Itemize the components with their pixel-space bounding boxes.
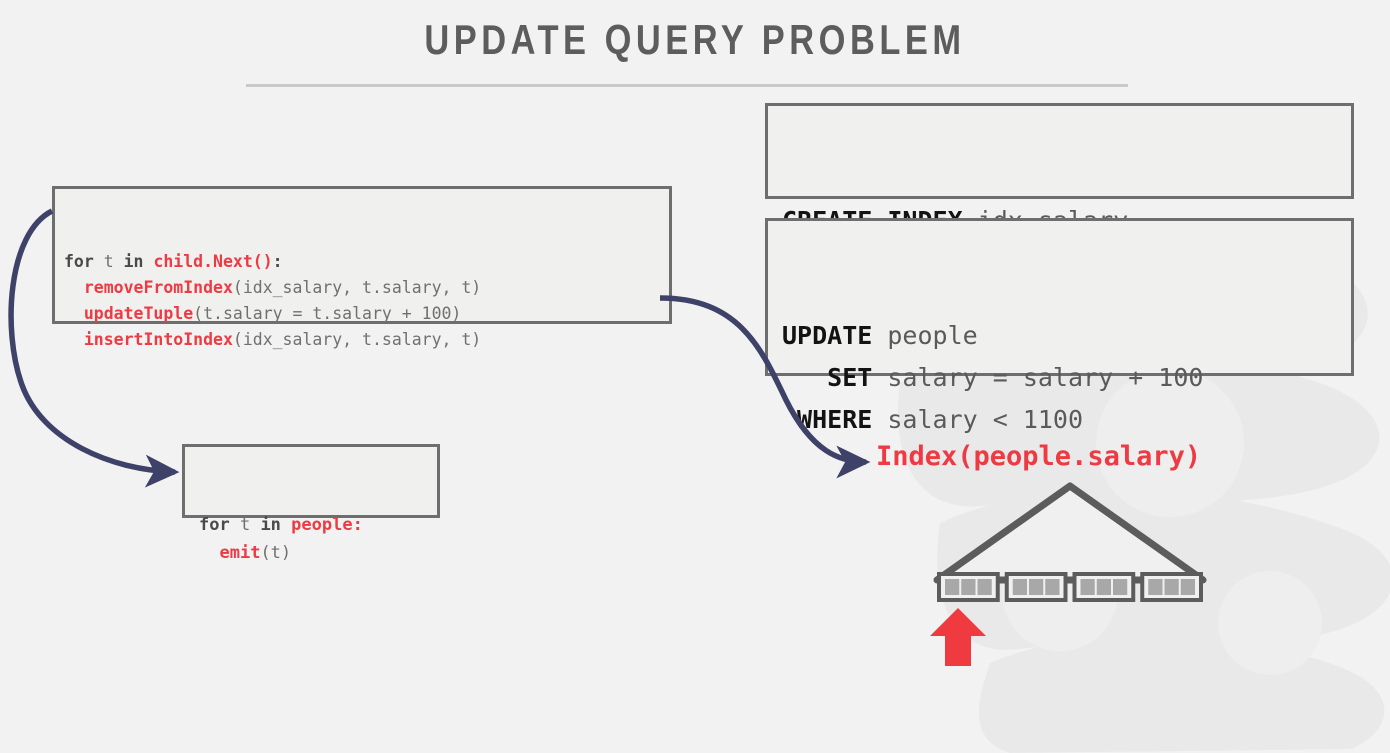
btree-leaf-cell — [978, 579, 992, 595]
code-segment — [64, 278, 84, 297]
code-segment: t — [240, 515, 260, 535]
code-segment: salary < 1100 — [887, 405, 1083, 434]
btree-leaf-cell — [961, 579, 975, 595]
code-lines: for t in child.Next(): removeFromIndex(i… — [64, 249, 659, 353]
code-segment — [64, 304, 84, 323]
code-line: SET salary = salary + 100 — [782, 357, 1337, 399]
code-segment: people: — [291, 515, 363, 535]
code-line: for t in child.Next(): — [64, 249, 659, 275]
page-title: UPDATE QUERY PROBLEM — [125, 16, 1265, 64]
code-segment: salary = salary + 100 — [887, 363, 1203, 392]
code-segment: people — [887, 321, 977, 350]
update-operator-pseudocode-box: for t in child.Next(): removeFromIndex(i… — [52, 186, 672, 324]
code-segment: emit — [219, 543, 260, 563]
btree-leaf-cell — [1029, 579, 1043, 595]
code-segment: WHERE — [782, 405, 887, 434]
code-segment: for — [199, 515, 240, 535]
code-segment: in — [260, 515, 291, 535]
code-line: removeFromIndex(idx_salary, t.salary, t) — [64, 275, 659, 301]
red-up-arrow-icon — [928, 606, 988, 668]
code-line: UPDATE people — [782, 315, 1337, 357]
sql-lines: UPDATE people SET salary = salary + 100 … — [782, 315, 1337, 441]
code-segment — [64, 330, 84, 349]
update-sql-box: UPDATE people SET salary = salary + 100 … — [765, 218, 1354, 376]
code-segment: : — [273, 252, 283, 271]
btree-leaf-cell — [1013, 579, 1027, 595]
code-line: WHERE salary < 1100 — [782, 399, 1337, 441]
code-line: for t in people: — [199, 511, 427, 539]
btree-leaf-cell — [1165, 579, 1179, 595]
child-scan-pseudocode-box: for t in people: emit(t) — [182, 444, 440, 518]
btree-leaf-cell — [1148, 579, 1162, 595]
code-segment: (idx_salary, t.salary, t) — [233, 330, 481, 349]
index-label: Index(people.salary) — [876, 441, 1201, 472]
code-segment — [199, 543, 219, 563]
btree-leaf-cell — [1113, 579, 1127, 595]
title-underline — [246, 84, 1128, 87]
code-segment: (t.salary = t.salary + 100) — [193, 304, 461, 323]
btree-leaf-cell — [1181, 579, 1195, 595]
code-segment: for — [64, 252, 104, 271]
create-index-sql-box: CREATE INDEX idx_salary ON people (salar… — [765, 103, 1354, 199]
btree-leaf-cell — [1081, 579, 1095, 595]
code-segment: t — [104, 252, 124, 271]
code-segment: updateTuple — [84, 304, 193, 323]
code-segment: (t) — [260, 543, 291, 563]
code-segment: insertIntoIndex — [84, 330, 233, 349]
btree-leaf-cell — [1045, 579, 1059, 595]
btree-index-icon — [925, 478, 1215, 608]
code-segment: in — [124, 252, 154, 271]
code-line: insertIntoIndex(idx_salary, t.salary, t) — [64, 327, 659, 353]
btree-leaf-cell — [1097, 579, 1111, 595]
code-segment: child.Next() — [153, 252, 272, 271]
btree-leaf-cell — [945, 579, 959, 595]
code-segment: removeFromIndex — [84, 278, 233, 297]
code-segment: UPDATE — [782, 321, 887, 350]
btree-root-triangle — [937, 486, 1203, 580]
code-line: emit(t) — [199, 539, 427, 567]
code-segment: (idx_salary, t.salary, t) — [233, 278, 481, 297]
code-lines: for t in people: emit(t) — [199, 511, 427, 567]
code-segment: SET — [782, 363, 887, 392]
code-line: updateTuple(t.salary = t.salary + 100) — [64, 301, 659, 327]
